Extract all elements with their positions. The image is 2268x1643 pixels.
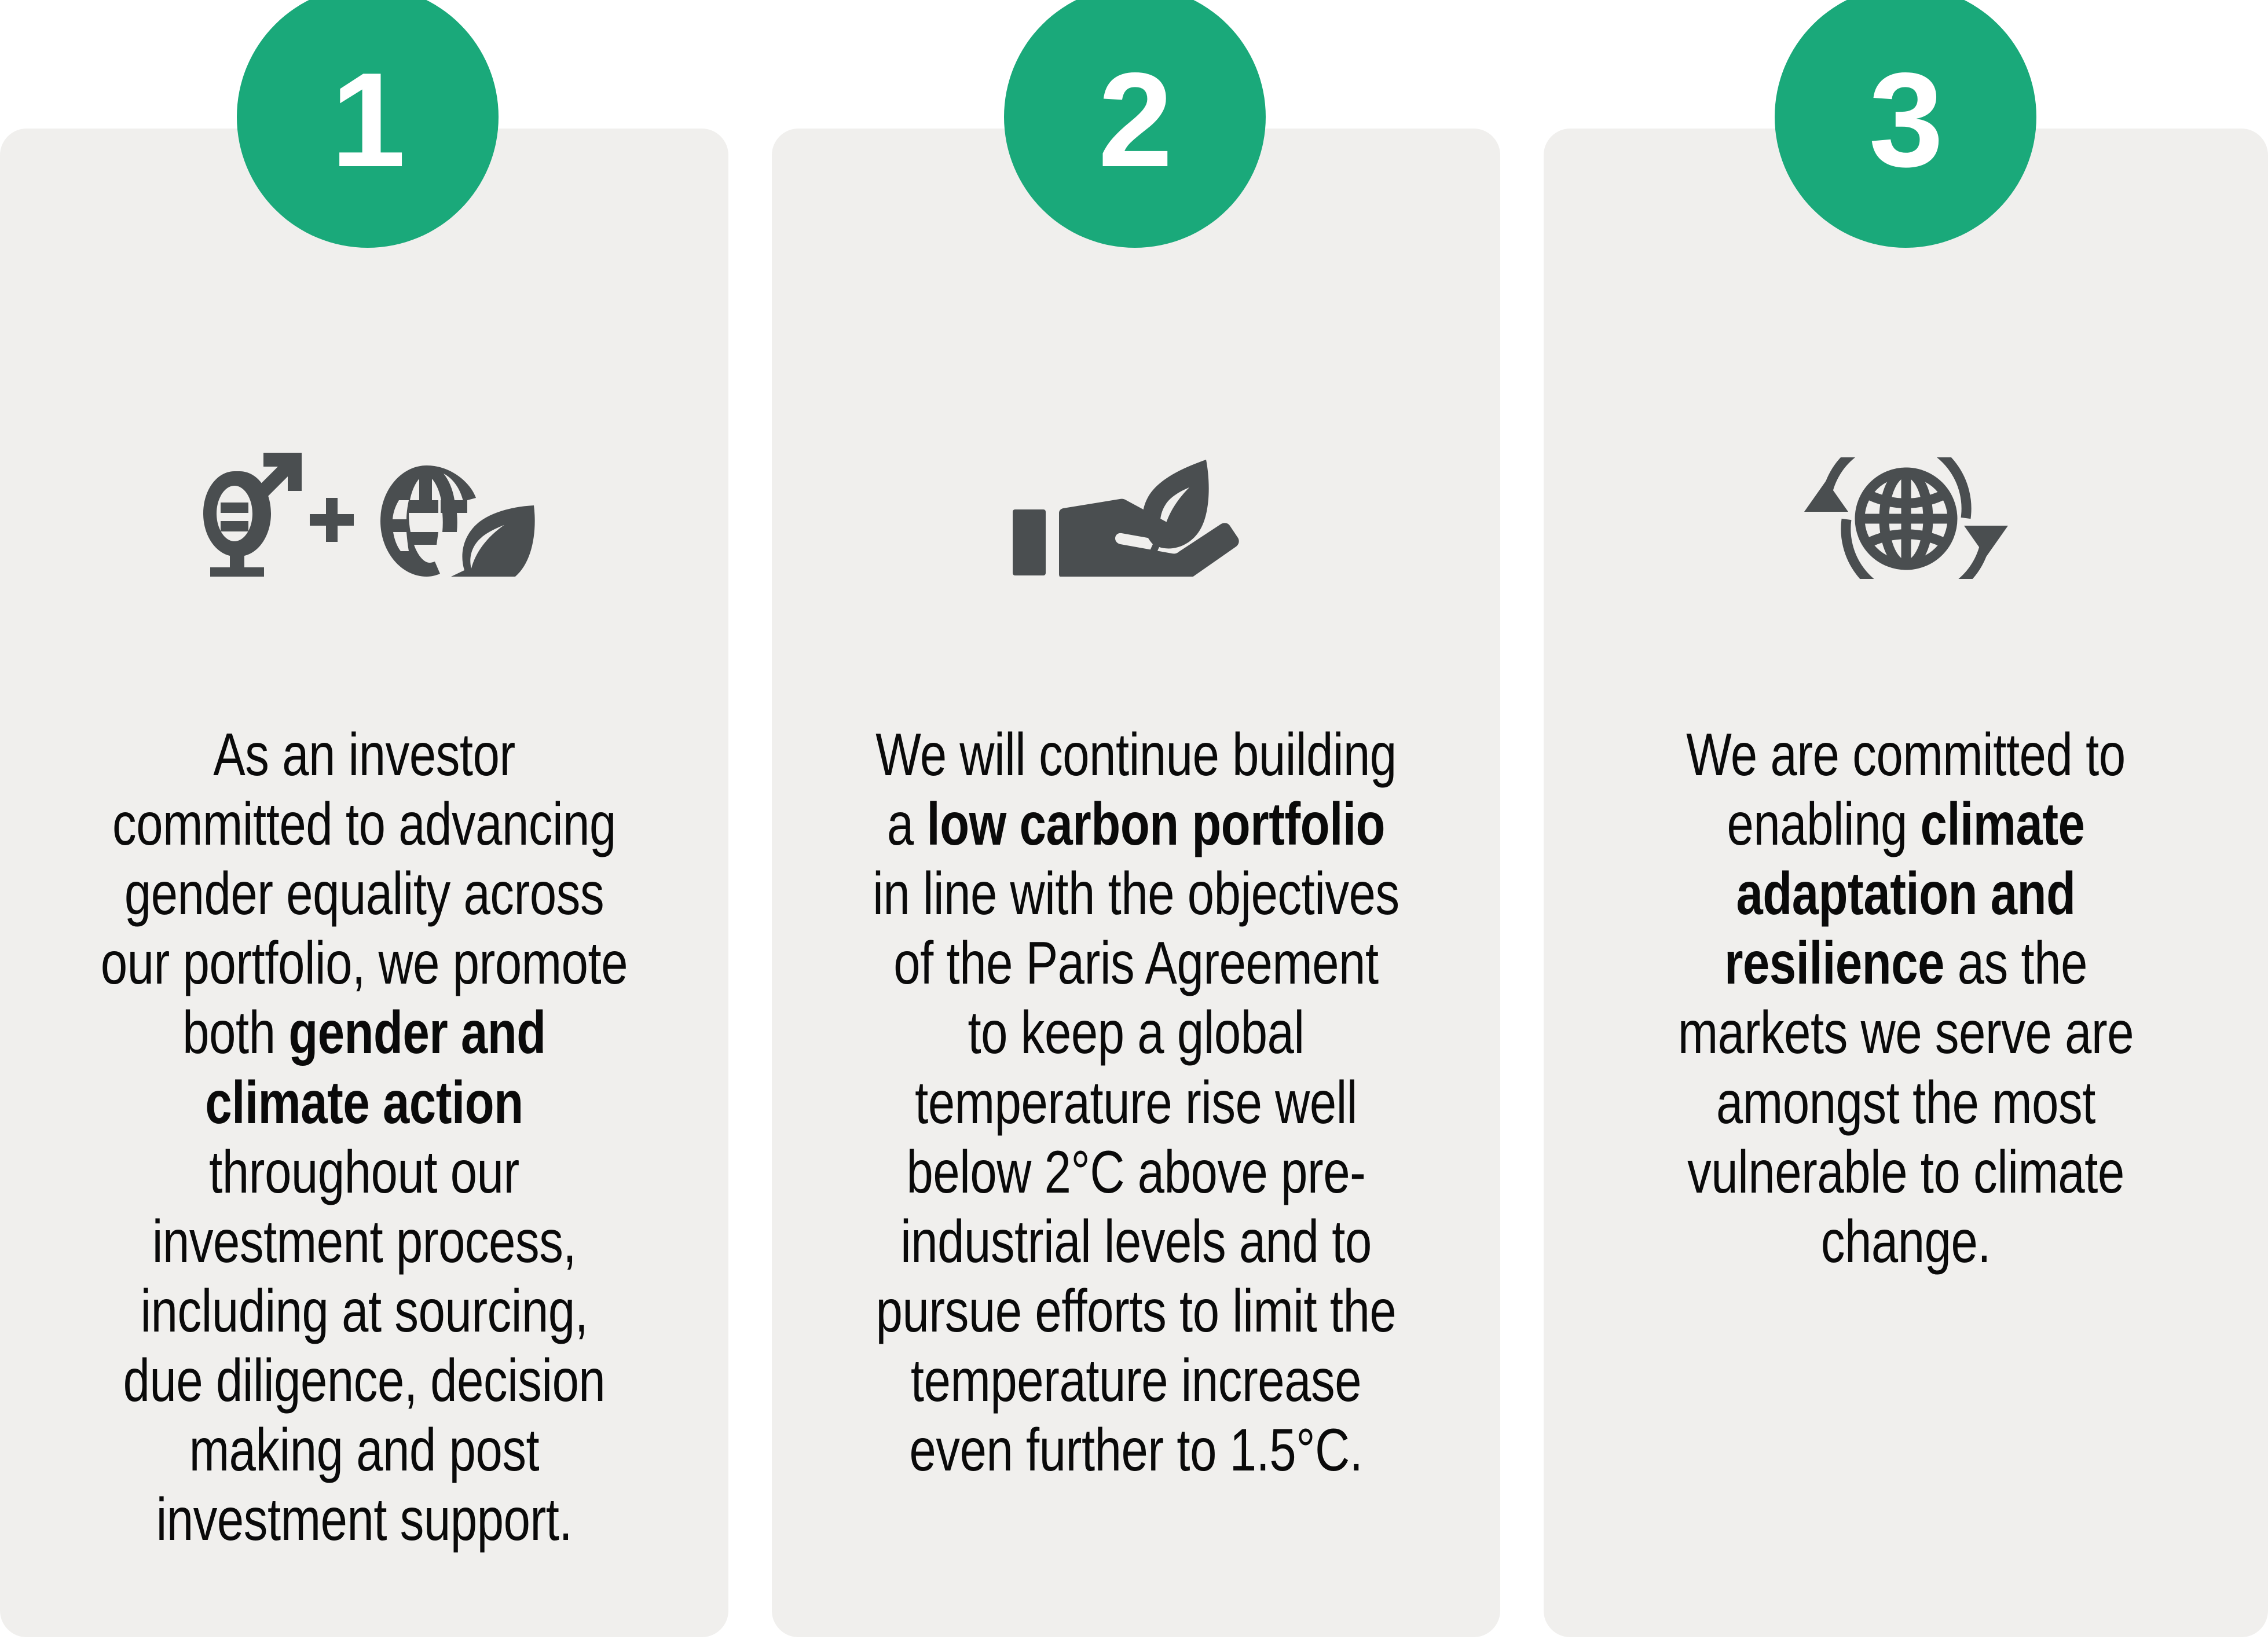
commitment-text-2: We will continue building a low carbon p… (845, 720, 1427, 1485)
commitments-infographic: As an investor committed to advancing ge… (0, 0, 2268, 1643)
globe-circular-arrows-icon (1544, 456, 2268, 580)
text-run-bold: low carbon portfolio (927, 791, 1386, 858)
step-number-2: 2 (1098, 53, 1171, 188)
step-number-3: 3 (1868, 53, 1942, 188)
text-run: in line with the objectives of the Paris… (873, 860, 1399, 1484)
text-run: throughout our investment process, inclu… (123, 1139, 606, 1554)
commitment-card-2: We will continue building a low carbon p… (772, 129, 1500, 1637)
gender-equality-plus-globe-leaf-icon (0, 450, 728, 577)
commitment-card-1: As an investor committed to advancing ge… (0, 129, 728, 1637)
commitment-card-3: We are committed to enabling climate ada… (1544, 129, 2268, 1637)
hand-holding-leaf-icon (772, 453, 1500, 577)
commitment-text-1: As an investor committed to advancing ge… (73, 720, 655, 1554)
commitment-text-3: We are committed to enabling climate ada… (1616, 720, 2196, 1277)
step-number-1: 1 (331, 53, 404, 188)
